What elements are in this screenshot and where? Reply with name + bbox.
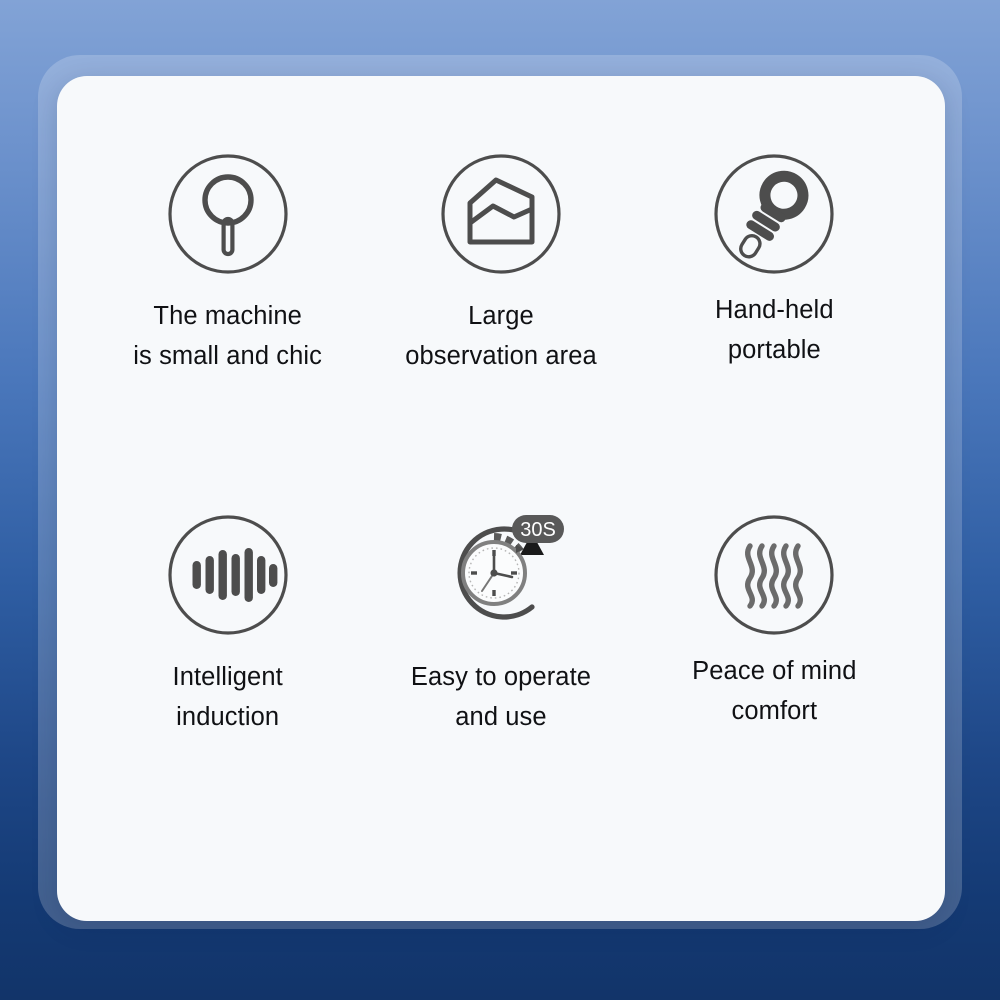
timer-clock-icon: 30S: [437, 511, 565, 639]
feature-label: Hand-held portable: [715, 290, 834, 371]
timer-badge: 30S: [512, 515, 564, 543]
feature-card: The machine is small and chic Large obse…: [57, 76, 945, 921]
feature-label: Easy to operate and use: [411, 657, 591, 738]
timer-badge-label: 30S: [520, 519, 556, 541]
feature-item-easy-operate: 30S Easy to operate and use: [364, 505, 637, 860]
feature-grid: The machine is small and chic Large obse…: [57, 76, 945, 921]
feature-label: Peace of mind comfort: [692, 651, 856, 732]
waveform-icon: [164, 511, 292, 639]
heat-waves-icon: [710, 511, 838, 639]
handheld-device-icon: [710, 150, 838, 278]
landscape-view-icon: [437, 150, 565, 278]
feature-item-small-machine: The machine is small and chic: [91, 150, 364, 505]
magnifier-round-icon: [164, 150, 292, 278]
feature-item-handheld: Hand-held portable: [638, 150, 911, 505]
feature-item-intelligent-induction: Intelligent induction: [91, 505, 364, 860]
feature-item-peace-of-mind: Peace of mind comfort: [638, 505, 911, 860]
feature-label: The machine is small and chic: [133, 296, 322, 377]
feature-item-observation-area: Large observation area: [364, 150, 637, 505]
feature-label: Intelligent induction: [173, 657, 283, 738]
feature-label: Large observation area: [405, 296, 597, 377]
